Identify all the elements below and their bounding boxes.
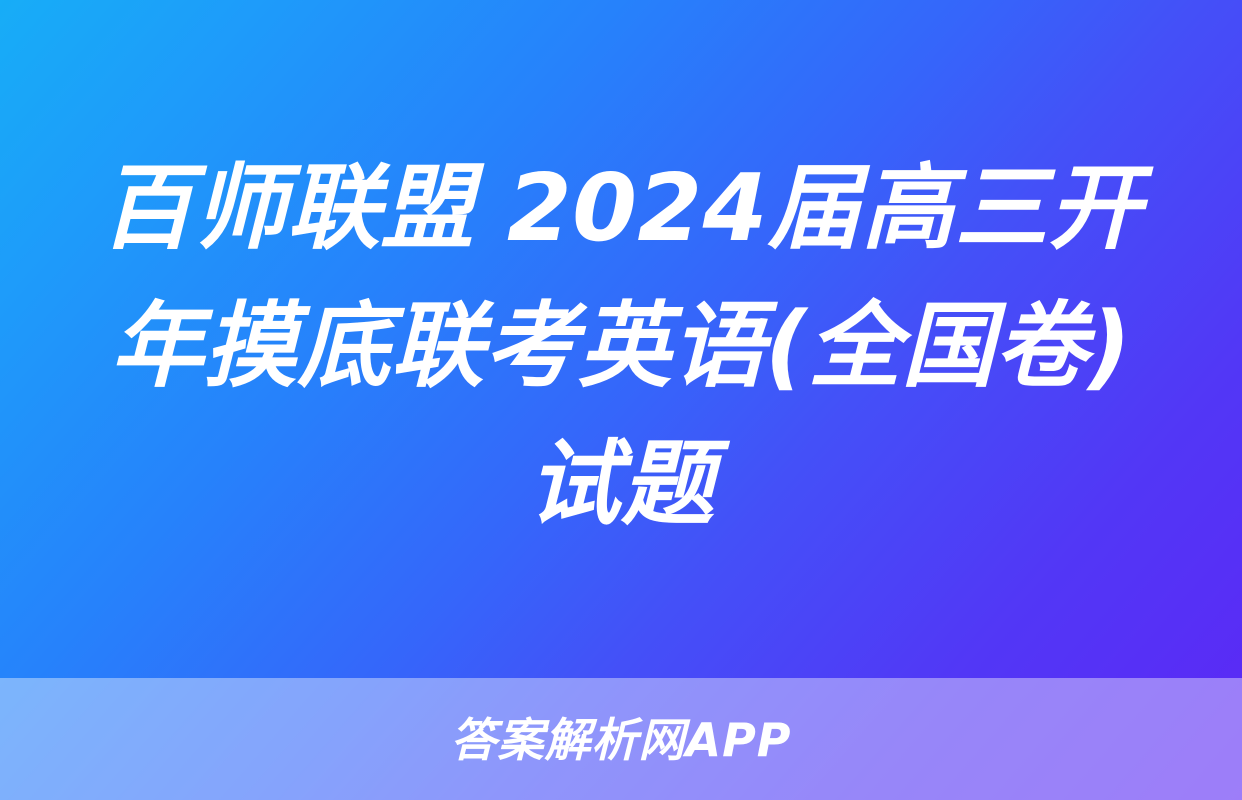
watermark-band: 答案解析网APP (0, 678, 1242, 800)
poster-root: 百师联盟 2024届高三开 年摸底联考英语(全国卷) 试题 答案解析网APP (0, 0, 1242, 800)
title-line-1: 百师联盟 2024届高三开 (81, 139, 1161, 277)
title-line-2: 年摸底联考英语(全国卷) (81, 277, 1161, 415)
title-line-3: 试题 (81, 415, 1161, 553)
title-block: 百师联盟 2024届高三开 年摸底联考英语(全国卷) 试题 (0, 0, 1242, 678)
watermark-label: 答案解析网APP (450, 717, 791, 763)
